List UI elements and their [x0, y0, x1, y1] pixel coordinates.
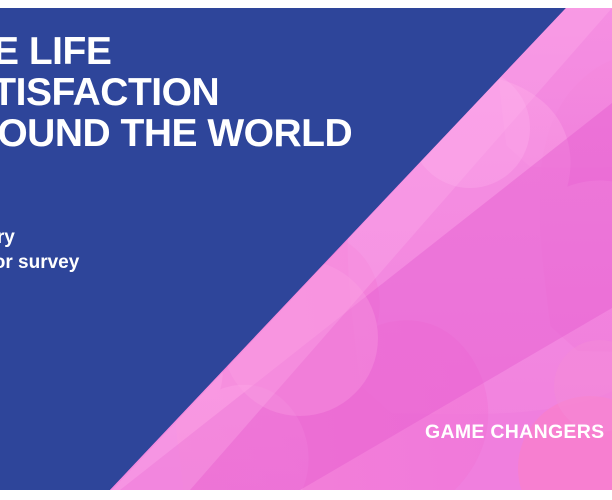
subtitle-line-2: Advisor survey: [0, 250, 362, 275]
heart-lobe-center-left: [222, 260, 378, 416]
title-line-2: SATISFACTION: [0, 72, 462, 113]
subtitle: Country Advisor survey: [0, 225, 362, 275]
page-title: THE LIFE SATISFACTION AROUND THE WORLD: [0, 31, 462, 154]
subtitle-line-1: Country: [0, 225, 362, 250]
title-slide: THE LIFE SATISFACTION AROUND THE WORLD C…: [0, 8, 612, 490]
brand-label: GAME CHANGERS: [425, 421, 604, 444]
title-line-1: THE LIFE: [0, 31, 462, 72]
title-line-3: AROUND THE WORLD: [0, 113, 462, 154]
